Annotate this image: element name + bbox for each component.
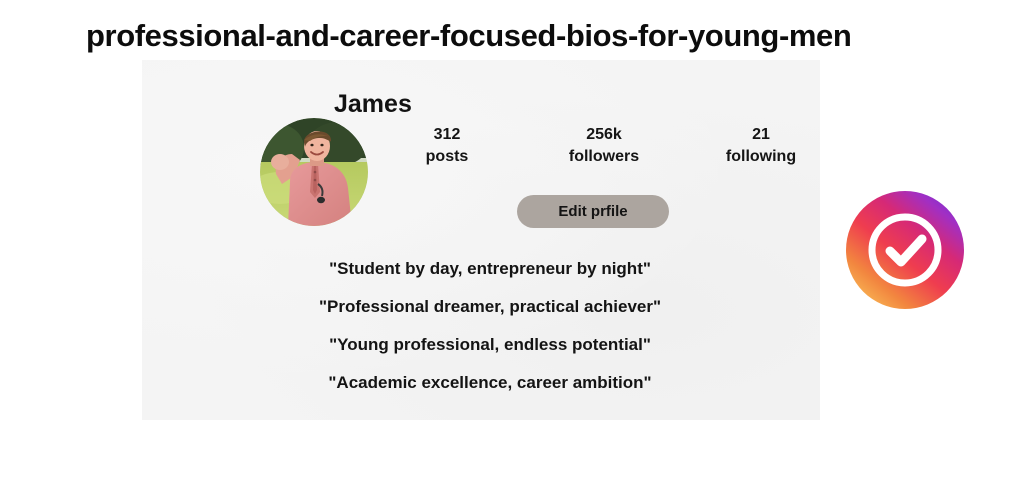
profile-card: James (142, 60, 820, 420)
profile-display-name: James (334, 90, 412, 119)
bio-line: "Student by day, entrepreneur by night" (142, 250, 820, 288)
page-title: professional-and-career-focused-bios-for… (86, 18, 851, 54)
stat-following-value: 21 (718, 124, 804, 146)
stat-followers[interactable]: 256k followers (561, 124, 647, 168)
avatar[interactable] (260, 118, 368, 226)
stat-posts-value: 312 (404, 124, 490, 146)
profile-stats: 312 posts 256k followers 21 following (404, 124, 804, 168)
stat-followers-label: followers (561, 146, 647, 168)
bio-list: "Student by day, entrepreneur by night" … (142, 250, 820, 402)
verified-badge[interactable] (846, 191, 964, 309)
avatar-photo (260, 118, 368, 226)
stat-posts-label: posts (404, 146, 490, 168)
bio-line: "Young professional, endless potential" (142, 326, 820, 364)
bio-line: "Professional dreamer, practical achieve… (142, 288, 820, 326)
stat-followers-value: 256k (561, 124, 647, 146)
stat-posts[interactable]: 312 posts (404, 124, 490, 168)
stat-following-label: following (718, 146, 804, 168)
bio-line: "Academic excellence, career ambition" (142, 364, 820, 402)
stat-following[interactable]: 21 following (718, 124, 804, 168)
edit-profile-button[interactable]: Edit prfile (517, 195, 669, 228)
profile-header: James (142, 60, 820, 235)
instagram-verified-check-icon (846, 191, 964, 309)
